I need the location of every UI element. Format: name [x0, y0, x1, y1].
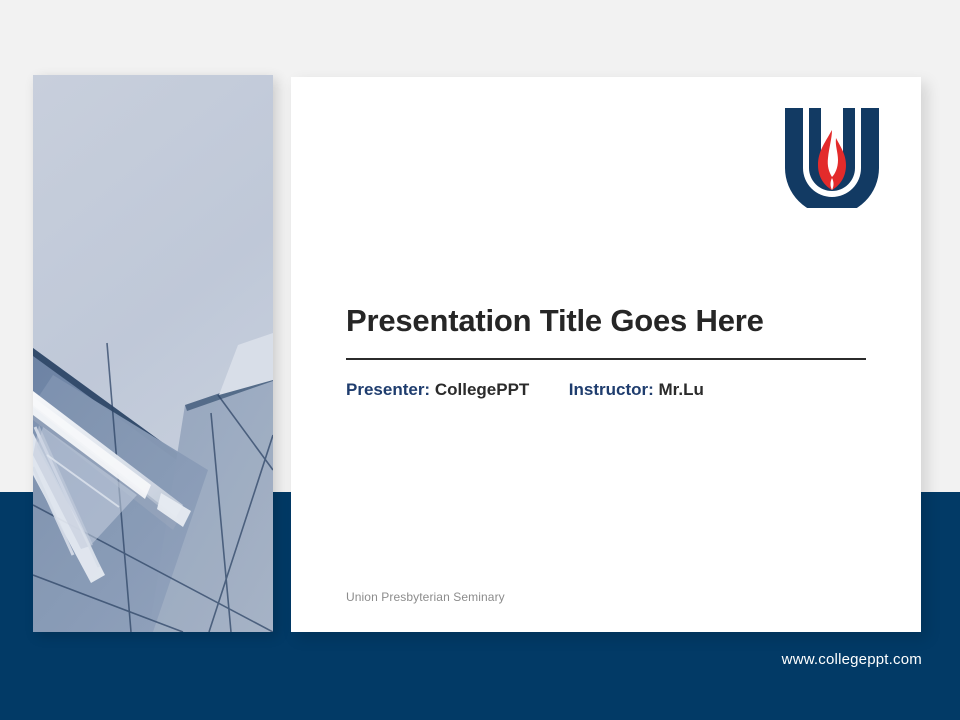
site-url: www.collegeppt.com — [782, 651, 922, 668]
instructor-value: Mr.Lu — [659, 380, 704, 399]
instructor-label: Instructor: — [569, 380, 654, 399]
title-divider — [346, 358, 866, 360]
architecture-photo — [33, 75, 273, 632]
byline-row: Presenter: CollegePPT Instructor: Mr.Lu — [346, 380, 866, 400]
title-block: Presentation Title Goes Here Presenter: … — [346, 303, 866, 400]
presenter-value: CollegePPT — [435, 380, 529, 399]
presenter-label: Presenter: — [346, 380, 430, 399]
slide-stage: Presentation Title Goes Here Presenter: … — [0, 0, 960, 720]
page-title: Presentation Title Goes Here — [346, 303, 866, 339]
union-presbyterian-seminary-logo-icon — [783, 108, 881, 208]
organization-name: Union Presbyterian Seminary — [346, 590, 505, 604]
